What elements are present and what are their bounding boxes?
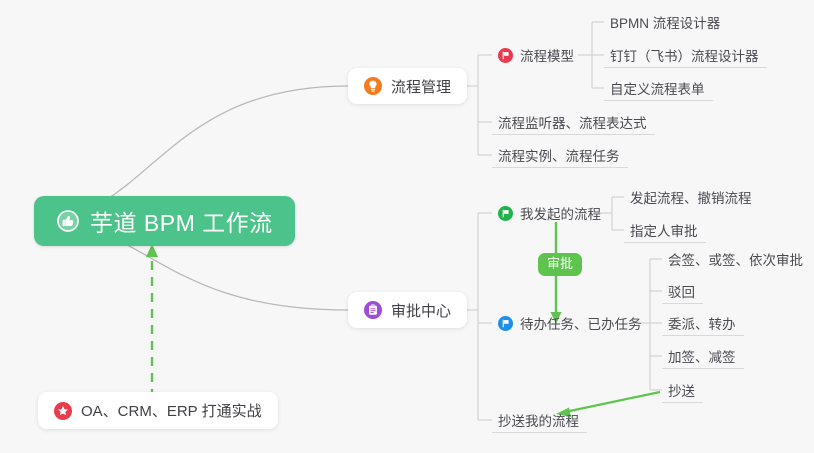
node-start-cancel-process[interactable]: 发起流程、撤销流程 (624, 184, 760, 210)
branch-process-management[interactable]: 流程管理 (348, 68, 467, 104)
node-process-model[interactable]: 流程模型 (492, 42, 582, 68)
node-cc-to-me-process[interactable]: 抄送我的流程 (492, 407, 587, 433)
root-node[interactable]: 芋道 BPM 工作流 (34, 196, 295, 246)
branch-label: 流程管理 (391, 76, 451, 97)
branch-approval-center[interactable]: 审批中心 (348, 292, 467, 328)
branch-label: 审批中心 (391, 300, 451, 321)
node-label: 我发起的流程 (520, 203, 601, 223)
node-label: 流程监听器、流程表达式 (498, 112, 647, 132)
floating-node-label: OA、CRM、ERP 打通实战 (81, 400, 262, 421)
flag-icon (498, 206, 513, 221)
flag-icon (498, 48, 513, 63)
node-label: 流程实例、流程任务 (498, 145, 620, 165)
node-label: BPMN 流程设计器 (610, 12, 720, 32)
thumbs-up-icon (56, 209, 80, 233)
node-label: 抄送我的流程 (498, 410, 579, 430)
node-delegate-transfer[interactable]: 委派、转办 (662, 310, 744, 336)
root-label: 芋道 BPM 工作流 (90, 204, 273, 238)
node-my-initiated-process[interactable]: 我发起的流程 (492, 200, 609, 226)
node-bpmn-designer[interactable]: BPMN 流程设计器 (604, 9, 728, 35)
node-label: 会签、或签、依次审批 (668, 249, 803, 269)
node-label: 发起流程、撤销流程 (630, 187, 752, 207)
node-dingtalk-feishu-designer[interactable]: 钉钉（飞书）流程设计器 (604, 42, 767, 68)
node-label: 流程模型 (520, 45, 574, 65)
node-label: 加签、减签 (668, 346, 736, 366)
node-cc[interactable]: 抄送 (662, 377, 703, 403)
floating-node-oa-crm-erp[interactable]: OA、CRM、ERP 打通实战 (38, 392, 278, 429)
mindmap-canvas: 芋道 BPM 工作流 流程管理 流程模型 BPMN 流程设计器 钉钉（飞书）流程 (0, 0, 814, 453)
node-add-remove-sign[interactable]: 加签、减签 (662, 343, 744, 369)
clipboard-icon (364, 301, 382, 319)
node-process-instance-task[interactable]: 流程实例、流程任务 (492, 142, 628, 168)
annotation-approval-chip: 审批 (538, 253, 582, 276)
node-custom-process-form[interactable]: 自定义流程表单 (604, 75, 713, 101)
node-todo-done-tasks[interactable]: 待办任务、已办任务 (492, 310, 650, 336)
node-countersign-orsign-sequential[interactable]: 会签、或签、依次审批 (662, 246, 811, 272)
node-label: 自定义流程表单 (610, 78, 705, 98)
node-label: 钉钉（飞书）流程设计器 (610, 45, 759, 65)
node-process-listener-expression[interactable]: 流程监听器、流程表达式 (492, 109, 655, 135)
node-label: 待办任务、已办任务 (520, 313, 642, 333)
node-label: 驳回 (668, 281, 695, 301)
node-reject[interactable]: 驳回 (662, 278, 703, 304)
star-icon (54, 402, 72, 420)
node-label: 委派、转办 (668, 313, 736, 333)
node-assignee-approval[interactable]: 指定人审批 (624, 217, 706, 243)
annotation-label: 审批 (547, 256, 573, 271)
flag-icon (498, 316, 513, 331)
node-label: 指定人审批 (630, 220, 698, 240)
lightbulb-icon (364, 77, 382, 95)
node-label: 抄送 (668, 380, 695, 400)
